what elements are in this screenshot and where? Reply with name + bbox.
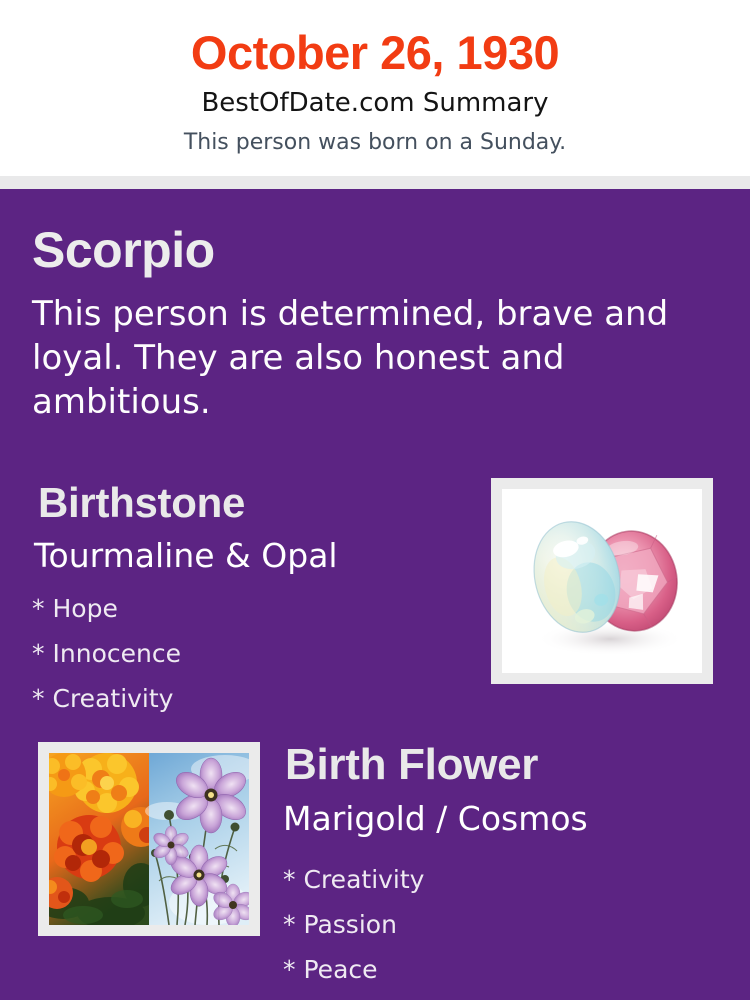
bullet-star-icon: * — [32, 639, 45, 668]
trait-label: Creativity — [53, 684, 174, 713]
birth-flower-image-frame — [38, 742, 260, 936]
header: October 26, 1930 BestOfDate.com Summary … — [0, 0, 750, 176]
list-item: *Innocence — [32, 631, 452, 676]
bullet-star-icon: * — [32, 594, 45, 623]
list-item: *Creativity — [32, 676, 452, 721]
zodiac-description: This person is determined, brave and loy… — [32, 292, 700, 424]
birthstone-name: Tourmaline & Opal — [34, 535, 338, 577]
trait-label: Innocence — [53, 639, 181, 668]
list-item: *Passion — [283, 902, 703, 947]
birth-flower-name: Marigold / Cosmos — [283, 798, 588, 840]
bullet-star-icon: * — [283, 910, 296, 939]
list-item: *Peace — [283, 947, 703, 992]
birthstone-trait-list: *Hope *Innocence *Creativity — [32, 586, 452, 721]
birth-flower-heading: Birth Flower — [285, 738, 538, 792]
bullet-star-icon: * — [32, 684, 45, 713]
list-item: *Creativity — [283, 857, 703, 902]
birthstone-heading: Birthstone — [38, 477, 245, 529]
flowers-icon — [49, 753, 249, 925]
bullet-star-icon: * — [283, 865, 296, 894]
bullet-star-icon: * — [283, 955, 296, 984]
page-title: October 26, 1930 — [0, 24, 750, 82]
list-item: *Hope — [32, 586, 452, 631]
birth-flower-trait-list: *Creativity *Passion *Peace — [283, 857, 703, 992]
trait-label: Passion — [304, 910, 397, 939]
birth-day-note: This person was born on a Sunday. — [0, 128, 750, 158]
birthstone-image — [502, 489, 702, 673]
gemstones-icon — [502, 489, 702, 673]
birthstone-image-frame — [491, 478, 713, 684]
header-divider — [0, 176, 750, 189]
trait-label: Creativity — [304, 865, 425, 894]
site-name: BestOfDate.com Summary — [0, 86, 750, 120]
zodiac-sign-title: Scorpio — [32, 220, 215, 280]
trait-label: Hope — [53, 594, 118, 623]
trait-label: Peace — [304, 955, 378, 984]
birth-flower-image — [49, 753, 249, 925]
summary-card: October 26, 1930 BestOfDate.com Summary … — [0, 0, 750, 1000]
